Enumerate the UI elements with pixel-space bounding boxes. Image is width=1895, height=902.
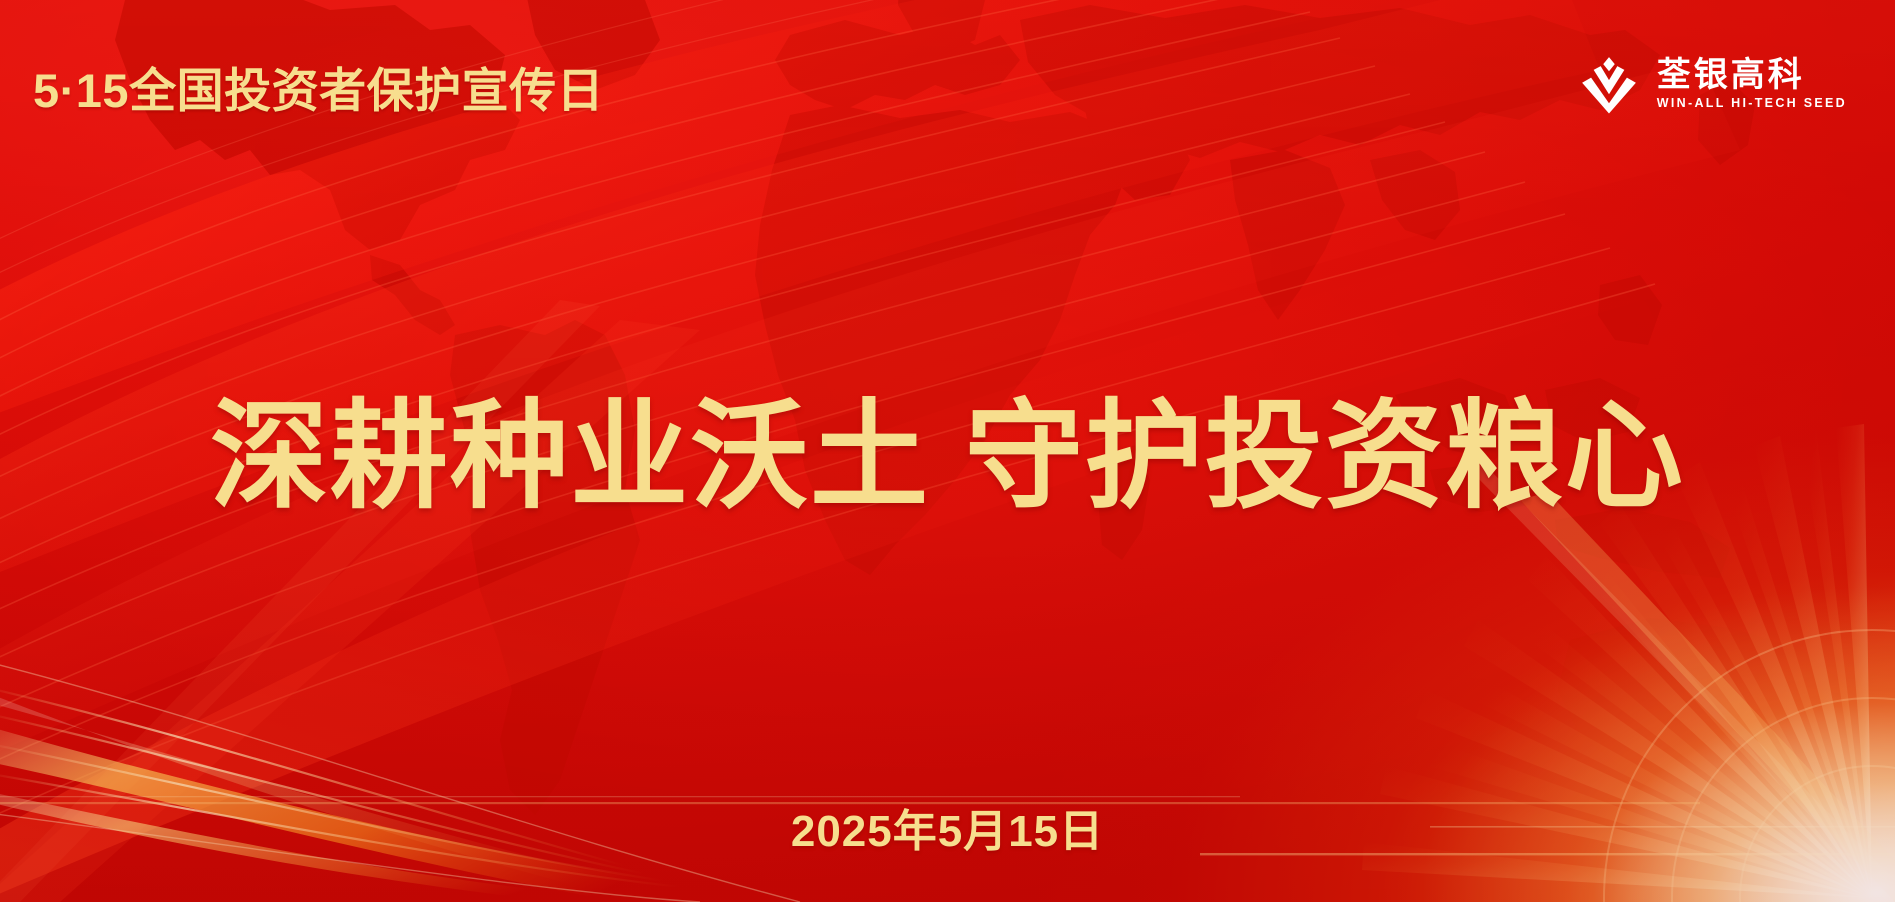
logo-wordmark: 荃银高科 WIN-ALL HI-TECH SEED bbox=[1657, 58, 1847, 111]
event-date: 2025年5月15日 bbox=[0, 795, 1895, 859]
company-logo: 荃银高科 WIN-ALL HI-TECH SEED bbox=[1577, 52, 1847, 116]
win-all-seed-chevron-icon bbox=[1577, 52, 1641, 116]
logo-name-en: WIN-ALL HI-TECH SEED bbox=[1657, 96, 1847, 110]
logo-name-cn: 荃银高科 bbox=[1657, 58, 1805, 94]
page-title: 深耕种业沃土 守护投资粮心 bbox=[0, 360, 1895, 531]
campaign-header-badge: 5·15全国投资者保护宣传日 bbox=[33, 52, 604, 121]
poster-canvas: 5·15全国投资者保护宣传日 深耕种业沃土 守护投资粮心 2025年5月15日 … bbox=[0, 0, 1895, 902]
